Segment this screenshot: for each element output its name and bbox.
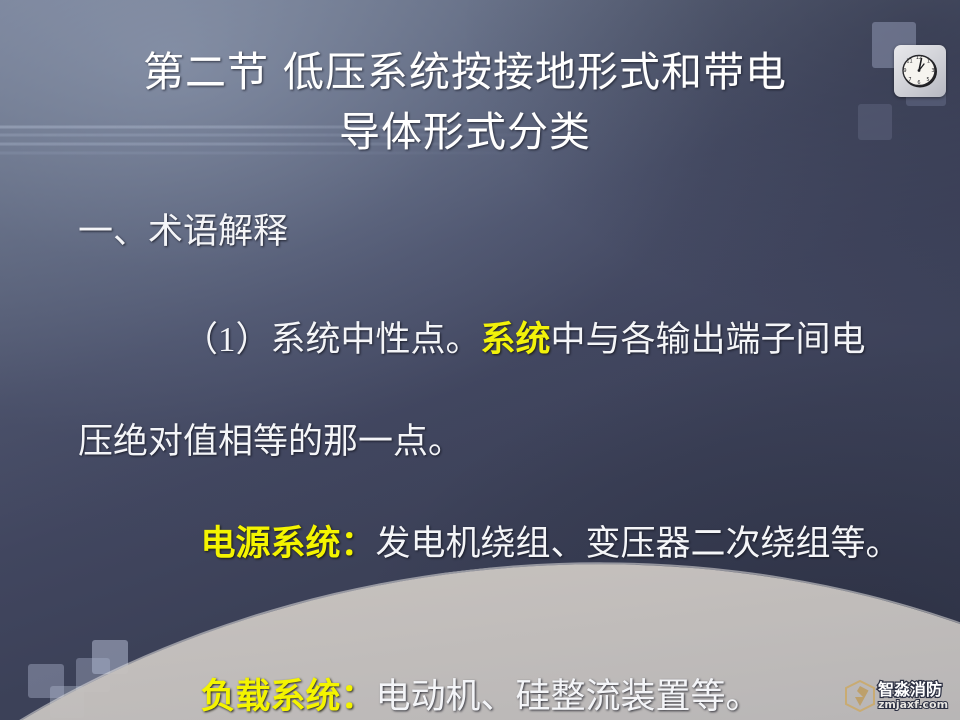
slide-canvas: 12 1 3 5 6 7 9 11 第二节 低压系统按接地形式和带电 导体形式分…: [0, 0, 960, 720]
slide-title: 第二节 低压系统按接地形式和带电 导体形式分类: [40, 42, 890, 162]
watermark-text: 智淼消防 zmjaxf.com: [878, 682, 948, 710]
svg-text:6: 6: [917, 80, 920, 86]
paragraph-2-label: 电源系统：: [201, 524, 376, 563]
clock-icon: 12 1 3 5 6 7 9 11: [899, 50, 941, 92]
paragraph-3-indent: [131, 677, 201, 716]
diamond-logo-icon: [845, 680, 875, 712]
paragraph-2-indent: [131, 524, 201, 563]
svg-text:7: 7: [908, 77, 911, 83]
slide-body: 一、术语解释 （1）系统中性点。系统中与各输出端子间电 压绝对值相等的那一点。 …: [78, 206, 908, 720]
paragraph-3-label: 负载系统：: [201, 677, 376, 716]
watermark: 智淼消防 zmjaxf.com: [845, 676, 957, 716]
paragraph-3-text: 电动机、硅整流装置等。: [376, 677, 761, 716]
clock-badge: 12 1 3 5 6 7 9 11: [894, 45, 946, 97]
paragraph-3: 负载系统：电动机、硅整流装置等。: [78, 620, 908, 720]
paragraph-1-rest: 中与各输出端子间电: [551, 320, 866, 359]
paragraph-2-text: 发电机绕组、变压器二次绕组等。: [376, 524, 901, 563]
svg-text:9: 9: [903, 68, 906, 74]
paragraph-1-highlight: 系统: [481, 320, 551, 359]
section-heading: 一、术语解释: [78, 206, 908, 257]
watermark-brand: 智淼消防: [878, 682, 948, 698]
svg-text:1: 1: [927, 59, 930, 65]
svg-text:11: 11: [906, 59, 912, 65]
paragraph-2: 电源系统：发电机绕组、变压器二次绕组等。: [78, 467, 908, 620]
paragraph-1-line-2: 压绝对值相等的那一点。: [78, 416, 908, 467]
paragraph-1-line-1: （1）系统中性点。系统中与各输出端子间电: [78, 263, 908, 416]
paragraph-1-prefix: （1）系统中性点。: [201, 320, 481, 359]
paragraph-1-indent: [131, 320, 201, 359]
svg-text:3: 3: [931, 68, 934, 74]
watermark-url: zmjaxf.com: [878, 699, 948, 710]
svg-text:5: 5: [926, 77, 929, 83]
